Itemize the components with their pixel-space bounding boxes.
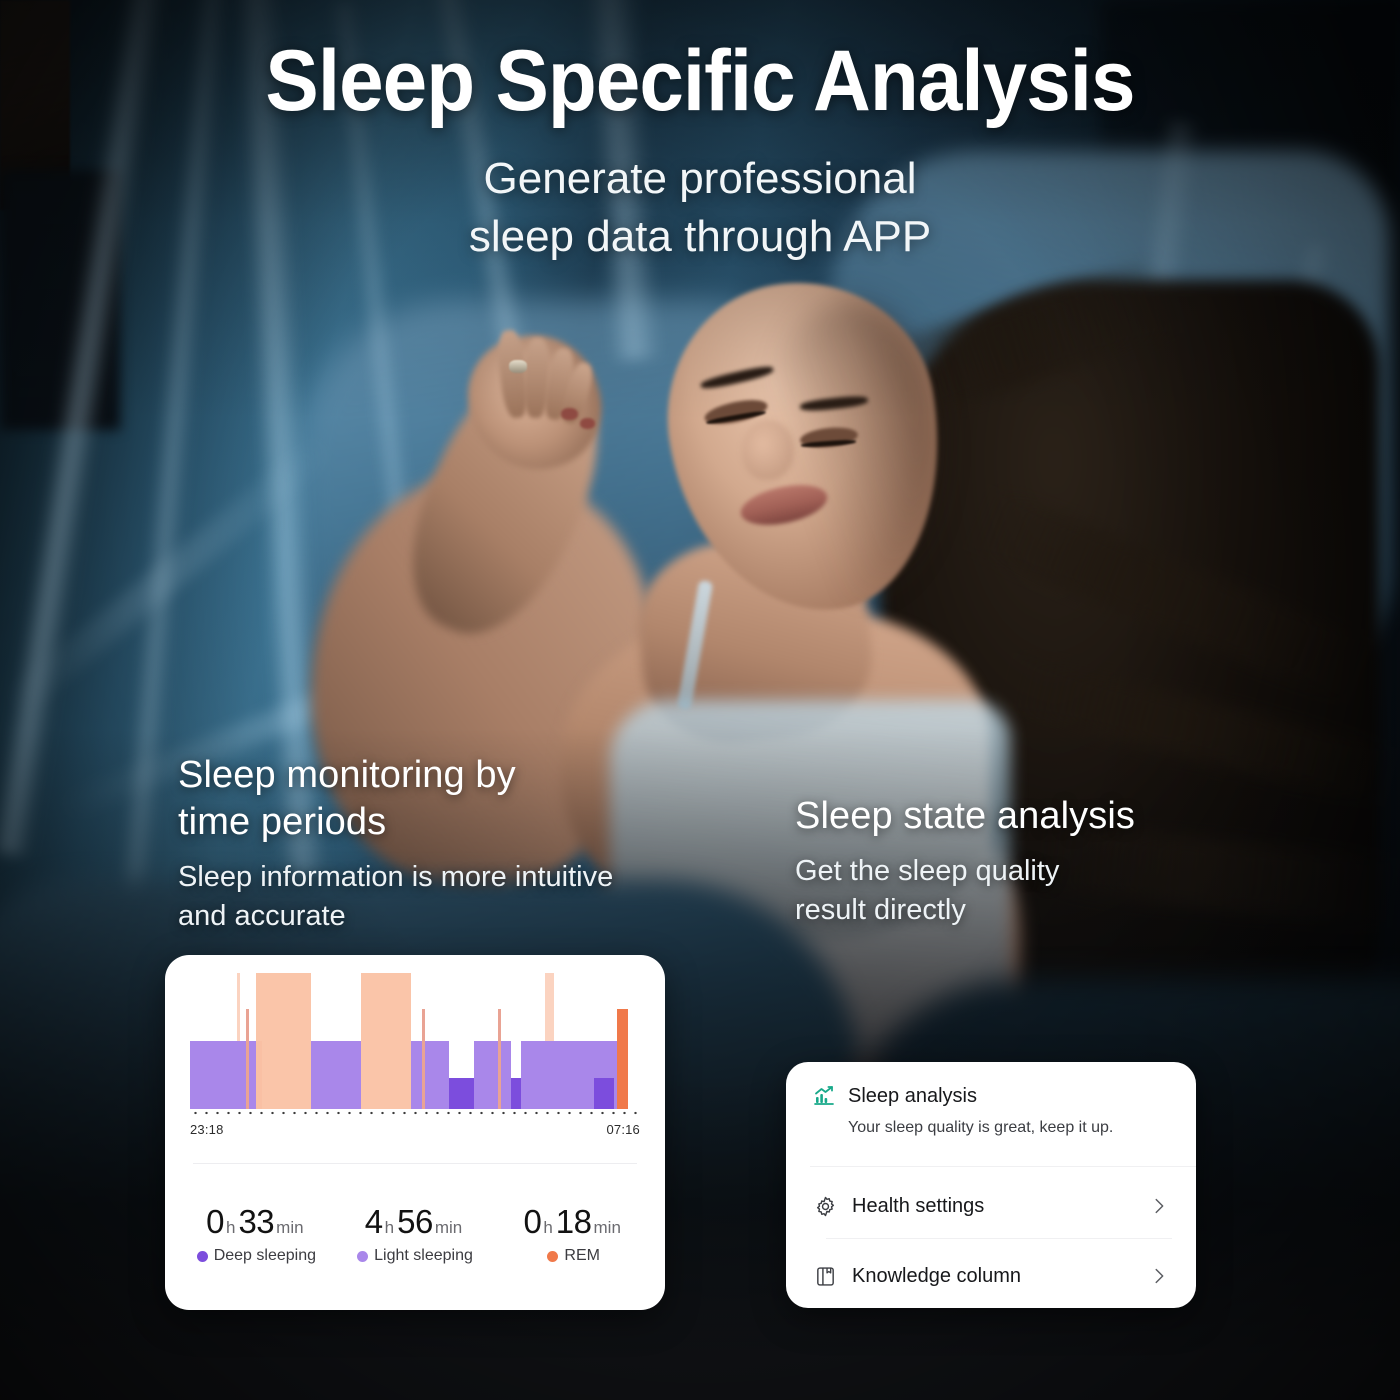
page-title: Sleep Specific Analysis bbox=[49, 36, 1351, 126]
chevron-right-icon[interactable] bbox=[1148, 1195, 1170, 1217]
axis-label-start: 23:18 bbox=[190, 1122, 224, 1137]
stat-legend: Light sleeping bbox=[336, 1247, 495, 1265]
stat-hours: 0 bbox=[206, 1203, 224, 1240]
sleep-analysis-title: Sleep analysis bbox=[848, 1085, 977, 1108]
stat-minutes: 56 bbox=[397, 1203, 433, 1240]
stat-legend: Deep sleeping bbox=[177, 1247, 336, 1265]
chart-trend-up-icon bbox=[812, 1084, 836, 1108]
sleep-stage-chart[interactable]: 23:18 07:16 bbox=[190, 973, 640, 1123]
sleep-analysis-description: Your sleep quality is great, keep it up. bbox=[848, 1118, 1170, 1139]
stat-value: 0h33min bbox=[177, 1203, 336, 1241]
page-subtitle: Generate professional sleep data through… bbox=[0, 150, 1400, 266]
sleep-analysis-header: Sleep analysis bbox=[812, 1084, 1170, 1108]
feature-description: Sleep information is more intuitive and … bbox=[178, 858, 738, 936]
chart-bar-deep bbox=[449, 1078, 474, 1109]
legend-label: Light sleeping bbox=[374, 1247, 473, 1265]
menu-item-knowledge-column[interactable]: Knowledge column bbox=[786, 1242, 1196, 1308]
stat-deep-sleeping: 0h33min Deep sleeping bbox=[177, 1203, 336, 1265]
stat-minute-unit: min bbox=[594, 1218, 621, 1237]
stat-minute-unit: min bbox=[435, 1218, 462, 1237]
stat-value: 0h18min bbox=[494, 1203, 653, 1241]
chart-bar-deep bbox=[511, 1078, 521, 1109]
feature-desc-line-2: and accurate bbox=[178, 897, 738, 936]
feature-desc-line-2: result directly bbox=[795, 891, 1225, 930]
sleep-chart-card: 23:18 07:16 0h33min Deep sleeping 4h56mi… bbox=[165, 955, 665, 1310]
menu-item-label: Health settings bbox=[852, 1195, 1148, 1218]
legend-dot-deep-sleeping bbox=[197, 1251, 208, 1262]
stat-hours: 4 bbox=[365, 1203, 383, 1240]
chart-bar-light bbox=[411, 1041, 449, 1109]
page-subtitle-line-2: sleep data through APP bbox=[0, 208, 1400, 266]
sleep-stats-row: 0h33min Deep sleeping 4h56min Light slee… bbox=[177, 1203, 653, 1265]
chart-bar-light bbox=[521, 1041, 549, 1109]
legend-dot-light-sleeping bbox=[357, 1251, 368, 1262]
feature-desc-line-1: Sleep information is more intuitive bbox=[178, 858, 738, 897]
chart-bars bbox=[190, 973, 640, 1109]
chart-bar-rem-strong bbox=[617, 1009, 628, 1109]
chart-axis-dotted-line bbox=[190, 1111, 640, 1115]
stat-hour-unit: h bbox=[385, 1218, 394, 1237]
feature-description: Get the sleep quality result directly bbox=[795, 852, 1225, 930]
menu-item-health-settings[interactable]: Health settings bbox=[786, 1172, 1196, 1240]
sleep-analysis-menu-card: Sleep analysis Your sleep quality is gre… bbox=[786, 1062, 1196, 1308]
chart-bar-light bbox=[311, 1041, 361, 1109]
menu-divider bbox=[810, 1166, 1196, 1167]
legend-label: REM bbox=[564, 1247, 600, 1265]
stat-minute-unit: min bbox=[276, 1218, 303, 1237]
feature-block-sleep-state: Sleep state analysis Get the sleep quali… bbox=[795, 793, 1225, 930]
stat-minutes: 18 bbox=[556, 1203, 592, 1240]
stat-rem: 0h18min REM bbox=[494, 1203, 653, 1265]
feature-title: Sleep monitoring by time periods bbox=[178, 752, 738, 846]
stat-value: 4h56min bbox=[336, 1203, 495, 1241]
card-divider bbox=[193, 1163, 637, 1164]
chart-bar-rem bbox=[361, 973, 411, 1109]
stat-hours: 0 bbox=[523, 1203, 541, 1240]
stat-light-sleeping: 4h56min Light sleeping bbox=[336, 1203, 495, 1265]
chevron-right-icon[interactable] bbox=[1148, 1265, 1170, 1287]
chart-bar-rem-mid bbox=[422, 1009, 425, 1109]
book-bookmark-icon bbox=[812, 1265, 838, 1288]
feature-desc-line-1: Get the sleep quality bbox=[795, 852, 1225, 891]
chart-bar-deep bbox=[594, 1078, 614, 1109]
legend-label: Deep sleeping bbox=[214, 1247, 316, 1265]
stat-minutes: 33 bbox=[238, 1203, 274, 1240]
chart-bar-rem-mid bbox=[246, 1009, 249, 1109]
feature-title: Sleep state analysis bbox=[795, 793, 1225, 840]
page-subtitle-line-1: Generate professional bbox=[0, 150, 1400, 208]
axis-label-end: 07:16 bbox=[606, 1122, 640, 1137]
chart-bar-light bbox=[474, 1041, 511, 1109]
stat-hour-unit: h bbox=[543, 1218, 552, 1237]
feature-title-line-1: Sleep state analysis bbox=[795, 793, 1225, 840]
feature-title-line-2: time periods bbox=[178, 799, 738, 846]
stat-legend: REM bbox=[494, 1247, 653, 1265]
feature-block-sleep-monitoring: Sleep monitoring by time periods Sleep i… bbox=[178, 752, 738, 936]
legend-dot-rem bbox=[547, 1251, 558, 1262]
sleep-analysis-block[interactable]: Sleep analysis Your sleep quality is gre… bbox=[786, 1062, 1196, 1139]
menu-divider bbox=[826, 1238, 1172, 1239]
feature-title-line-1: Sleep monitoring by bbox=[178, 752, 738, 799]
menu-item-label: Knowledge column bbox=[852, 1265, 1148, 1288]
chart-bar-rem-mid bbox=[498, 1009, 501, 1109]
chart-bar-rem bbox=[256, 973, 311, 1109]
stat-hour-unit: h bbox=[226, 1218, 235, 1237]
gear-icon bbox=[812, 1195, 838, 1218]
